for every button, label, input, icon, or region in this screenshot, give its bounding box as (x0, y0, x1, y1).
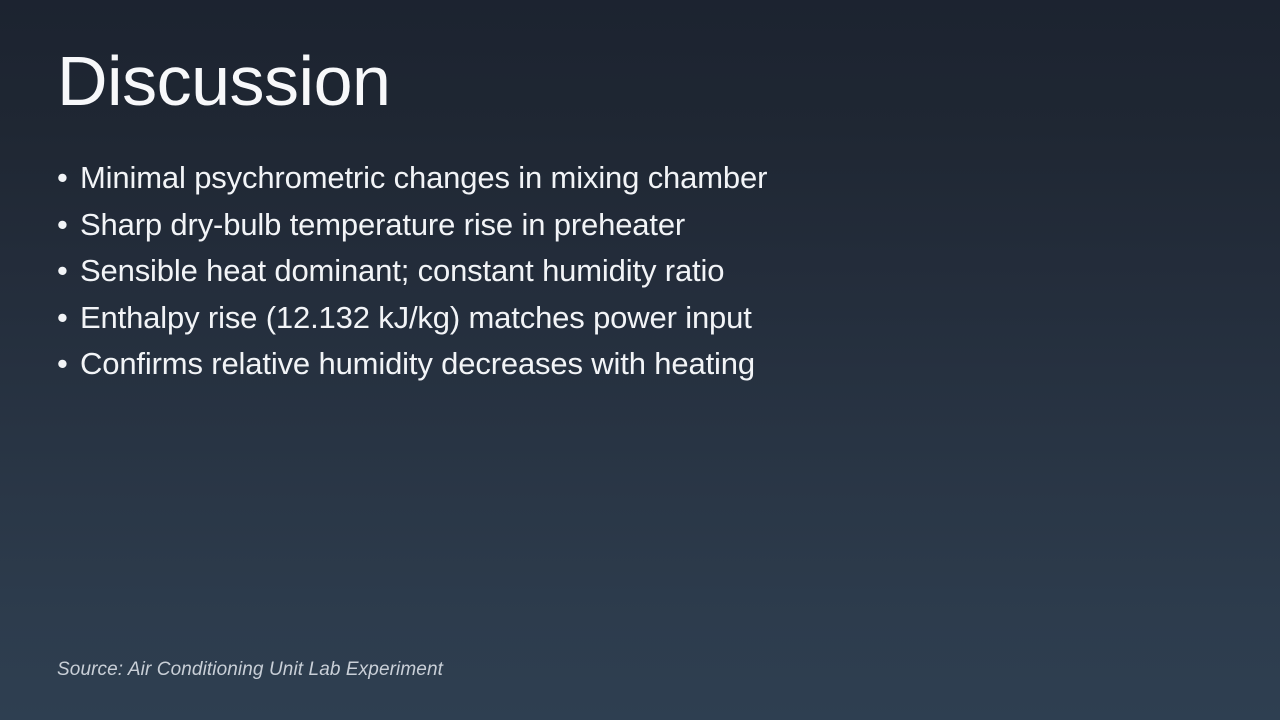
bullet-point-icon: • (57, 155, 80, 202)
bullet-point-icon: • (57, 202, 80, 249)
list-item-label: Enthalpy rise (12.132 kJ/kg) matches pow… (80, 295, 752, 342)
list-item: • Sharp dry-bulb temperature rise in pre… (57, 202, 1157, 249)
list-item: • Sensible heat dominant; constant humid… (57, 248, 1157, 295)
bullet-list: • Minimal psychrometric changes in mixin… (57, 155, 1157, 388)
list-item-label: Sensible heat dominant; constant humidit… (80, 248, 724, 295)
list-item: • Minimal psychrometric changes in mixin… (57, 155, 1157, 202)
page-title: Discussion (57, 46, 390, 116)
list-item: • Enthalpy rise (12.132 kJ/kg) matches p… (57, 295, 1157, 342)
list-item-label: Minimal psychrometric changes in mixing … (80, 155, 767, 202)
list-item: • Confirms relative humidity decreases w… (57, 341, 1157, 388)
bullet-point-icon: • (57, 248, 80, 295)
bullet-point-icon: • (57, 295, 80, 342)
list-item-label: Sharp dry-bulb temperature rise in prehe… (80, 202, 685, 249)
presentation-slide: Discussion • Minimal psychrometric chang… (0, 0, 1280, 720)
list-item-label: Confirms relative humidity decreases wit… (80, 341, 755, 388)
bullet-point-icon: • (57, 341, 80, 388)
source-caption: Source: Air Conditioning Unit Lab Experi… (57, 657, 443, 683)
